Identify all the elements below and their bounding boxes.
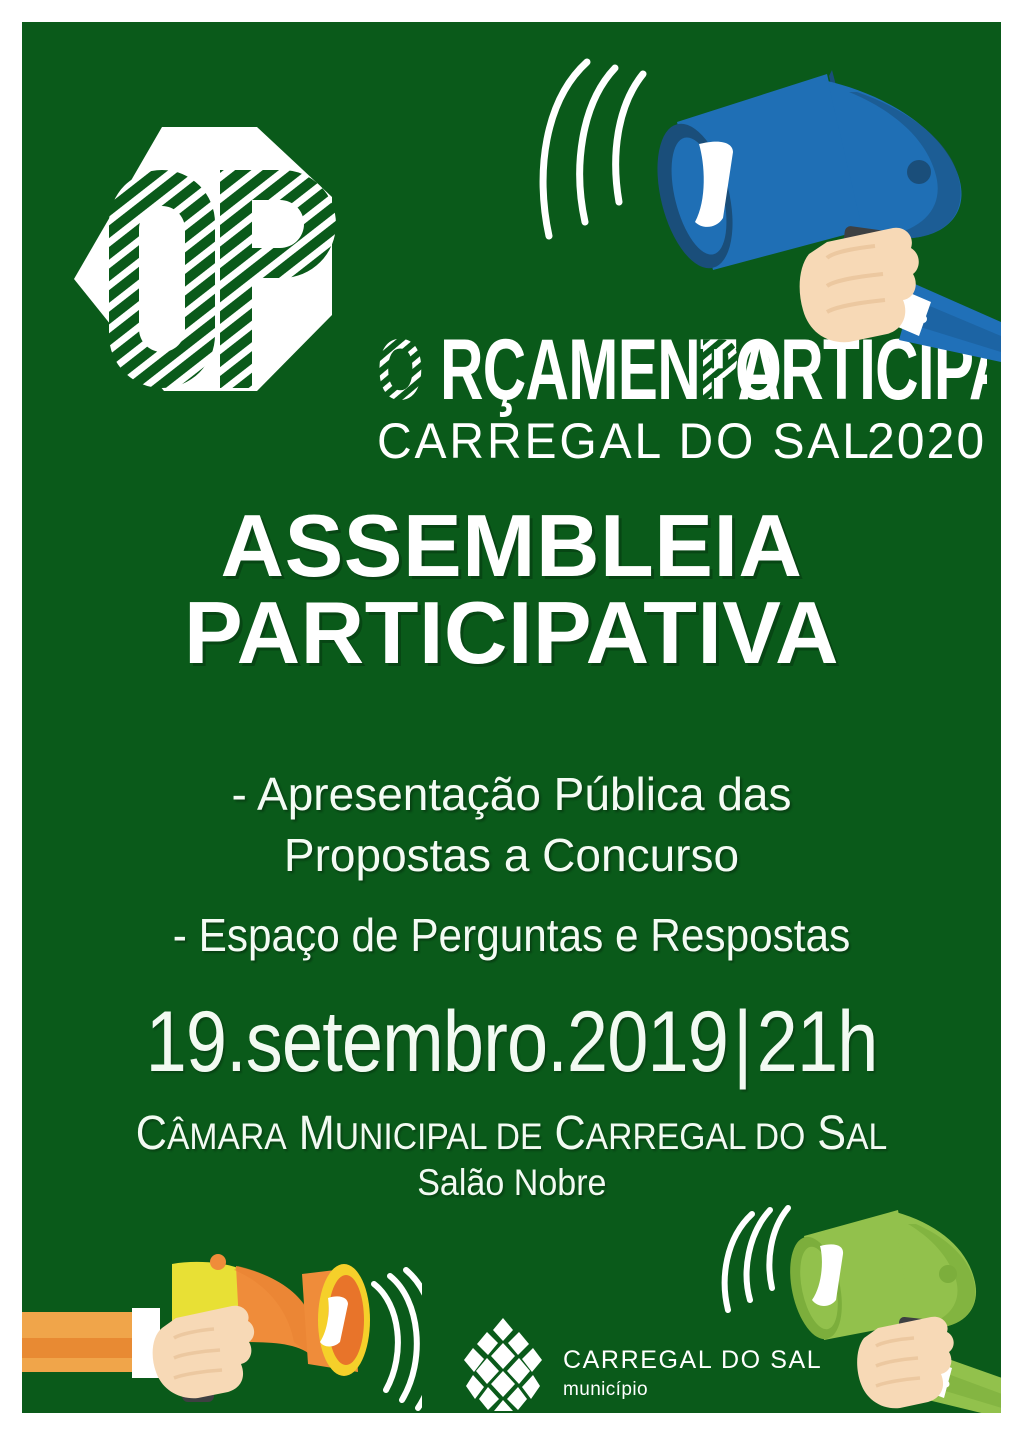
wordmark-striped-o [377, 327, 443, 417]
megaphone-orange-icon [22, 1250, 422, 1413]
event-date: 19.setembro.2019 [146, 994, 728, 1090]
megaphone-green-icon [712, 1202, 1001, 1413]
bullet-spacer [22, 885, 1001, 905]
event-datetime: 19.setembro.2019|21h [22, 997, 1001, 1087]
event-room-label: Salão Nobre [417, 1162, 606, 1204]
headline-line-1: ASSEMBLEIA [221, 496, 803, 595]
bullet-line-2: Propostas a Concurso [22, 825, 1001, 886]
bullet-list: - Apresentação Pública das Propostas a C… [22, 764, 1001, 966]
event-room: Salão Nobre [22, 1162, 1001, 1204]
page-title: ASSEMBLEIA PARTICIPATIVA [22, 502, 1001, 676]
headline-line-2: PARTICIPATIVA [22, 589, 1001, 676]
datetime-separator: | [728, 994, 757, 1090]
pinecone-icon [457, 1316, 549, 1413]
wordmark-year: 2020 [867, 413, 986, 469]
bullet-line-1: - Apresentação Pública das [22, 764, 1001, 825]
megaphone-blue-icon [527, 22, 1001, 362]
wordmark-location: CARREGAL DO SAL [377, 414, 872, 469]
event-time: 21h [757, 994, 878, 1090]
poster-canvas: O P RÇAMENTO [0, 0, 1024, 1449]
bullet-line-3: - Espaço de Perguntas e Respostas [61, 905, 962, 966]
poster-background: O P RÇAMENTO [22, 22, 1001, 1413]
event-venue: CÂMARA MUNICIPAL DE CARREGAL DO SAL [22, 1109, 1001, 1160]
op-monogram-logo [52, 119, 352, 439]
venue-text: CÂMARA MUNICIPAL DE CARREGAL DO SAL [136, 1109, 888, 1160]
